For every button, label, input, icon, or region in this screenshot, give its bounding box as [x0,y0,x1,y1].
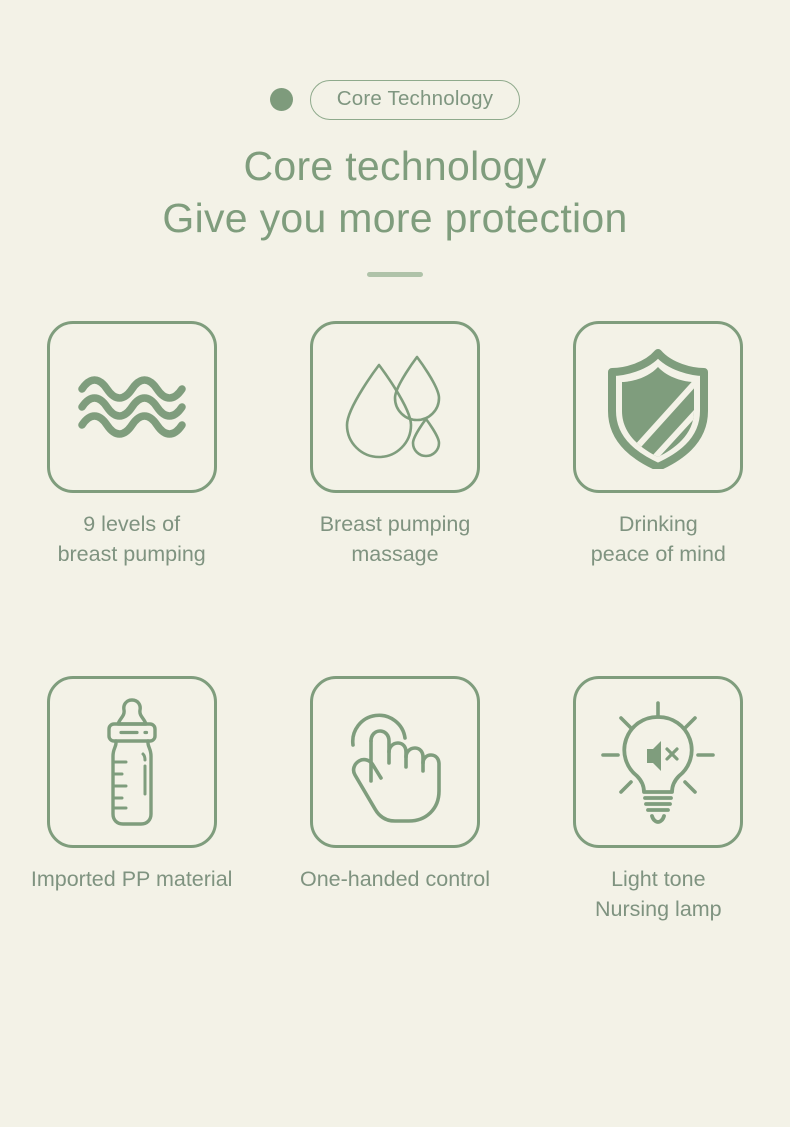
feature-card [47,676,217,848]
core-technology-page: { "badge": { "dot_icon": "filled-circle-… [0,80,790,1127]
feature-grid-row-2: Imported PP material One-handed control [0,676,790,925]
page-subtitle: Give you more protection [0,192,790,244]
feature-item-bottle: Imported PP material [0,676,263,925]
feature-card [573,321,743,493]
baby-bottle-icon [80,694,184,830]
feature-card [573,676,743,848]
title-divider [367,272,423,277]
badge-row: Core Technology [0,80,790,120]
feature-item-hand: One-handed control [263,676,526,925]
filled-circle-icon [270,88,293,111]
page-heading-block: Core technology Give you more protection [0,140,790,277]
feature-card [310,676,480,848]
feature-item-shield: Drinking peace of mind [527,321,790,570]
feature-item-drops: Breast pumping massage [263,321,526,570]
badge-label: Core Technology [310,80,520,120]
feature-caption: One-handed control [300,864,490,895]
feature-caption: Light tone Nursing lamp [595,864,722,925]
feature-item-waves: 9 levels of breast pumping [0,321,263,570]
waves-icon [72,347,192,467]
feature-caption: Breast pumping massage [320,509,471,570]
feature-caption: 9 levels of breast pumping [58,509,206,570]
water-drops-icon [333,345,457,469]
hand-tap-icon [333,697,457,827]
feature-grid-row-1: 9 levels of breast pumping Breast pumpin… [0,321,790,570]
shield-icon [598,345,718,469]
page-title: Core technology [0,140,790,192]
feature-caption: Imported PP material [31,864,233,895]
lightbulb-mute-icon [595,697,721,827]
feature-caption: Drinking peace of mind [591,509,726,570]
grid-row-spacer [0,570,790,632]
feature-item-lamp: Light tone Nursing lamp [527,676,790,925]
feature-card [47,321,217,493]
feature-card [310,321,480,493]
